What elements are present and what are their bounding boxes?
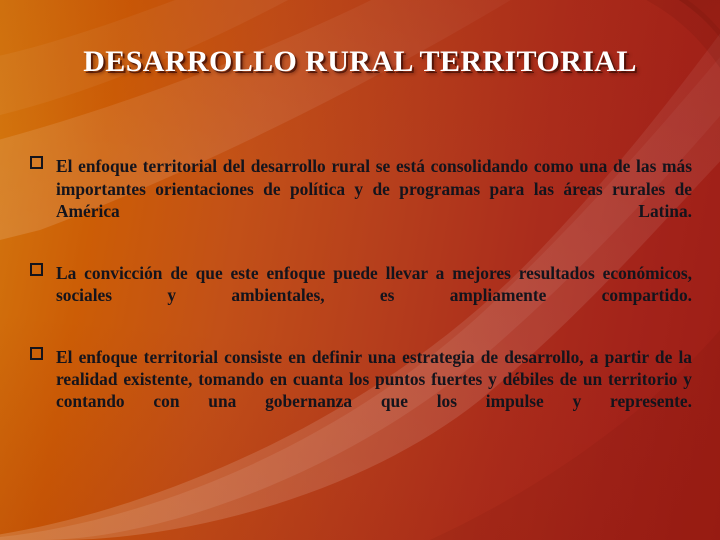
- bullet-list: El enfoque territorial del desarrollo ru…: [28, 138, 692, 434]
- presentation-slide: DESARROLLO RURAL TERRITORIAL El enfoque …: [0, 0, 720, 540]
- list-item-text: La convicción de que este enfoque puede …: [56, 263, 692, 305]
- list-item: El enfoque territorial consiste en defin…: [28, 346, 692, 435]
- list-item-text: El enfoque territorial del desarrollo ru…: [56, 156, 692, 220]
- list-item-text: El enfoque territorial consiste en defin…: [56, 347, 692, 411]
- hollow-square-bullet-icon: [30, 263, 43, 276]
- list-item: El enfoque territorial del desarrollo ru…: [28, 155, 692, 244]
- list-item: La convicción de que este enfoque puede …: [28, 262, 692, 329]
- page-title: DESARROLLO RURAL TERRITORIAL: [83, 46, 637, 78]
- hollow-square-bullet-icon: [30, 347, 43, 360]
- title-bar: DESARROLLO RURAL TERRITORIAL: [0, 46, 720, 78]
- hollow-square-bullet-icon: [30, 156, 43, 169]
